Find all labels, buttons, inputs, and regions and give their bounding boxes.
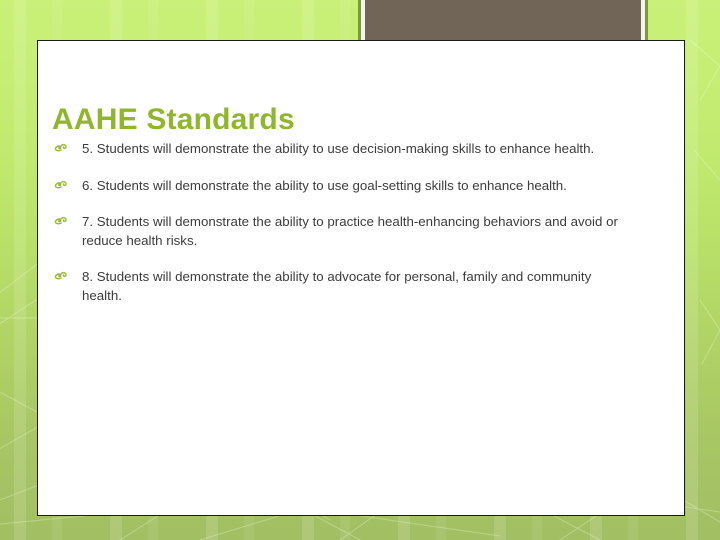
list-item-label: 7. Students will demonstrate the ability… <box>82 213 627 250</box>
list-item-label: 5. Students will demonstrate the ability… <box>82 140 627 159</box>
header-accent-inner-border <box>361 0 645 45</box>
leaf-bullet-icon <box>54 214 70 230</box>
slide-canvas: AAHE Standards 5. Students will demonstr… <box>0 0 720 540</box>
leaf-bullet-icon <box>54 269 70 285</box>
standards-list: 5. Students will demonstrate the ability… <box>52 140 627 305</box>
list-item-label: 6. Students will demonstrate the ability… <box>82 177 627 196</box>
header-accent-fill <box>365 0 641 41</box>
leaf-bullet-icon <box>54 178 70 194</box>
list-item: 7. Students will demonstrate the ability… <box>52 213 627 250</box>
list-item-label: 8. Students will demonstrate the ability… <box>82 268 627 305</box>
list-item: 5. Students will demonstrate the ability… <box>52 140 627 159</box>
leaf-bullet-icon <box>54 141 70 157</box>
list-item: 8. Students will demonstrate the ability… <box>52 268 627 305</box>
list-item: 6. Students will demonstrate the ability… <box>52 177 627 196</box>
page-title: AAHE Standards <box>52 103 295 137</box>
